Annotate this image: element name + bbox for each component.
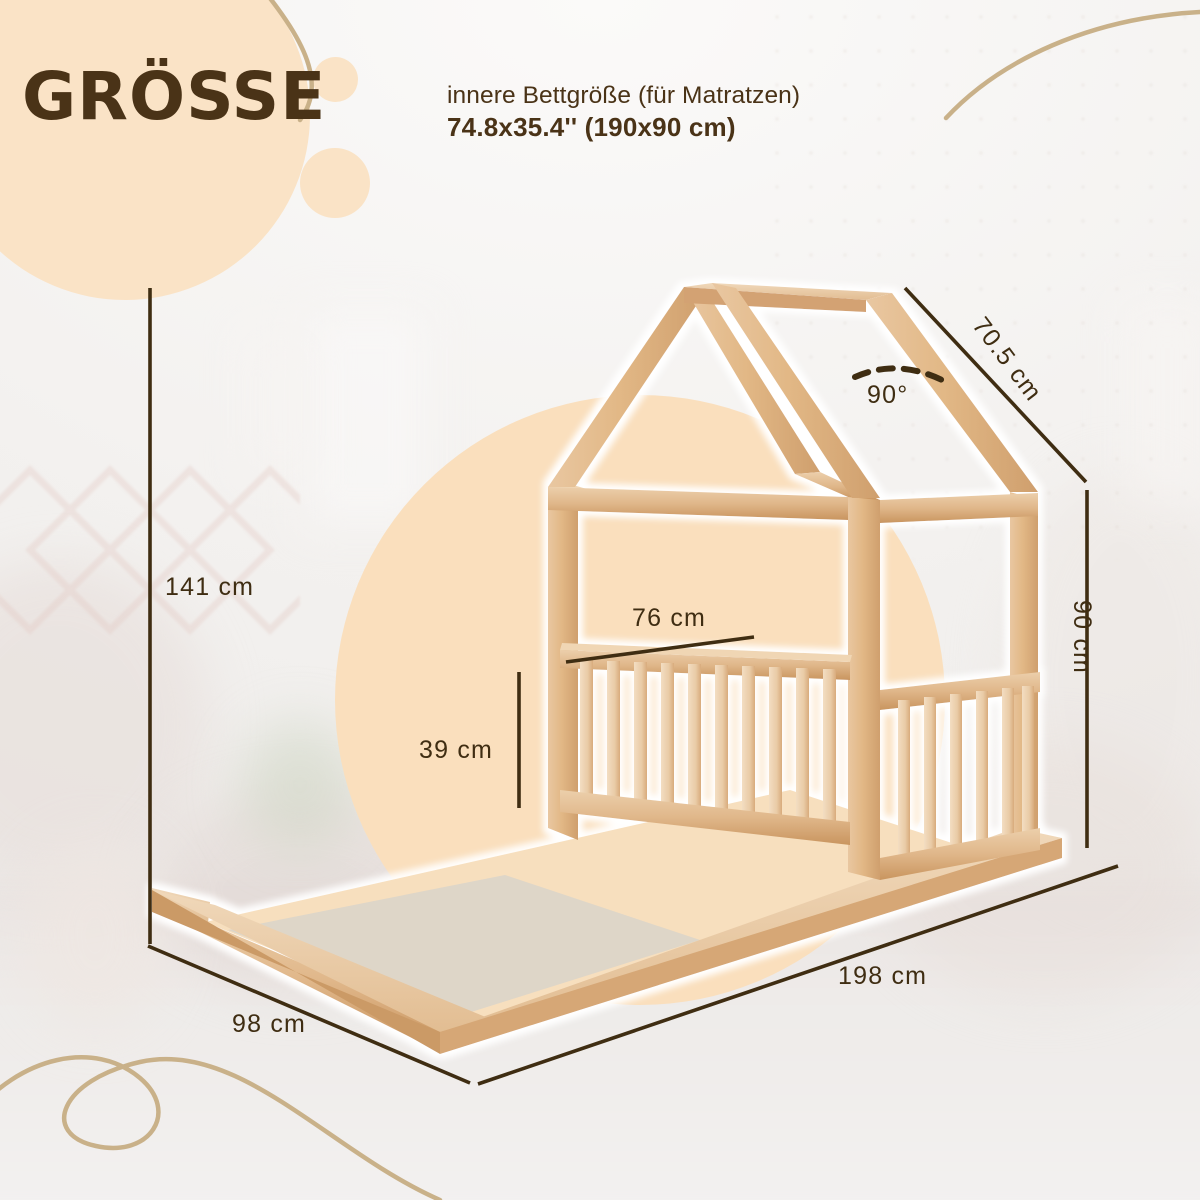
- infographic-canvas: GRÖSSE innere Bettgröße (für Matratzen) …: [0, 0, 1200, 1200]
- arc-90-degrees: [855, 368, 944, 381]
- dimension-98-cm: 98 cm: [232, 1010, 306, 1039]
- line-76-cm: [566, 637, 754, 662]
- dimension-76-cm: 76 cm: [632, 604, 706, 633]
- subtitle-block: innere Bettgröße (für Matratzen) 74.8x35…: [447, 82, 967, 144]
- dimension-39-cm: 39 cm: [419, 736, 493, 765]
- line-198-cm: [478, 866, 1118, 1084]
- subtitle-line-1: innere Bettgröße (für Matratzen): [447, 82, 967, 110]
- dimension-90-degrees: 90°: [867, 381, 908, 410]
- dimension-198-cm: 198 cm: [838, 962, 927, 991]
- line-70-5-cm: [905, 288, 1086, 482]
- page-title: GRÖSSE: [22, 58, 326, 135]
- dimension-90-cm: 90 cm: [1067, 600, 1096, 674]
- subtitle-line-2: 74.8x35.4'' (190x90 cm): [447, 112, 967, 144]
- line-98-cm: [148, 946, 470, 1083]
- dimension-141-cm: 141 cm: [165, 573, 254, 602]
